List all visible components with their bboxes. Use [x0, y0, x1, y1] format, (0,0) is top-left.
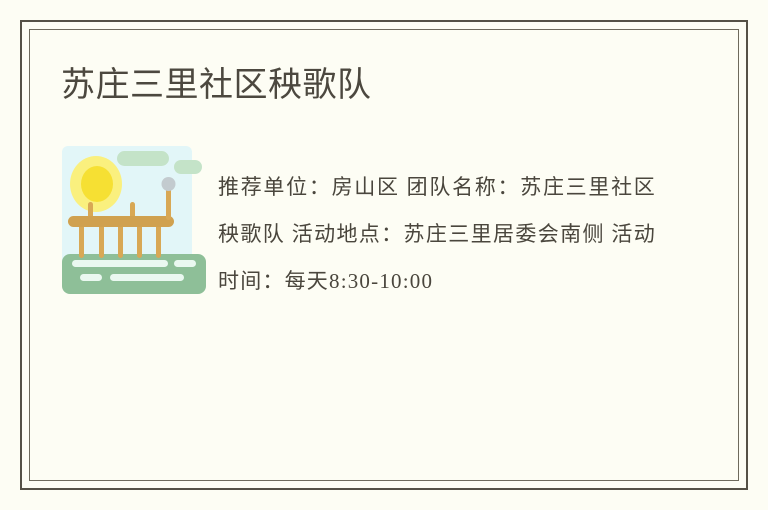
wave-line-2 — [174, 260, 196, 267]
card-content: 苏庄三里社区秧歌队 — [0, 0, 768, 510]
wave-line-4 — [110, 274, 184, 281]
pier-leg-2 — [99, 224, 104, 258]
pier-deck — [68, 216, 174, 227]
lamp-head-icon — [162, 177, 176, 191]
pier-sun-waterfront-illustration — [60, 146, 208, 294]
lamp-post — [166, 188, 171, 220]
cloud-small — [174, 160, 202, 174]
pier-leg-3 — [118, 224, 123, 258]
wave-line-3 — [80, 274, 102, 281]
cloud-large — [117, 151, 169, 166]
pier-leg-4 — [137, 224, 142, 258]
wave-line-1 — [72, 260, 168, 267]
pier-leg-1 — [79, 224, 84, 258]
sun-core — [81, 166, 113, 202]
team-info-text: 推荐单位：房山区 团队名称：苏庄三里社区秧歌队 活动地点：苏庄三里居委会南侧 活… — [218, 164, 656, 305]
pier-leg-5 — [156, 224, 161, 258]
page-title: 苏庄三里社区秧歌队 — [61, 63, 372, 107]
